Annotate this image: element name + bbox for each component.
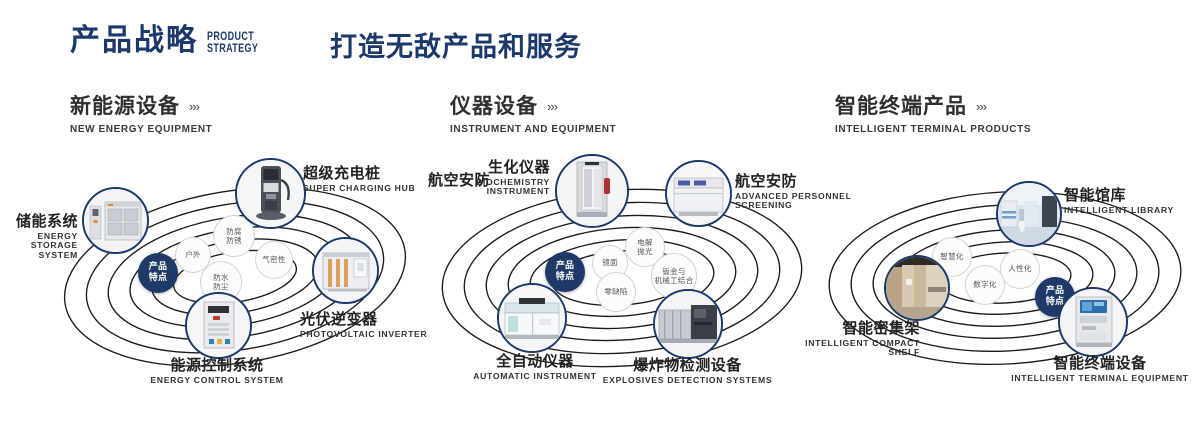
chevron-right-icon: ››› [189,100,199,113]
energy-storage-cabinet-icon [84,189,147,252]
control-cabinet-icon [187,294,250,357]
poster-canvas: 产品战略 PRODUCT STRATEGY 打造无敌产品和服务 新能源设备 ››… [0,0,1200,422]
section-title-cn: 仪器设备 [450,96,538,117]
biochemistry-scanner-icon [557,156,627,226]
section-title-cn: 智能终端产品 [835,96,967,117]
section-title-en: INSTRUMENT AND EQUIPMENT [450,124,616,135]
self-service-kiosk-icon [1060,289,1126,355]
node-biochemistry-instrument[interactable] [555,154,629,228]
page-title: 产品战略 PRODUCT STRATEGY [70,26,273,56]
node-photovoltaic-inverter[interactable] [312,237,379,304]
node-explosives-detection-systems[interactable] [653,289,723,359]
section-header-new-energy: 新能源设备 ››› NEW ENERGY EQUIPMENT [70,96,212,135]
pv-inverter-cabinet-icon [314,239,377,302]
title-cn: 产品战略 [70,26,198,56]
chevron-right-icon: ››› [547,100,557,113]
slogan: 打造无敌产品和服务 [330,34,582,61]
feature-bubble: 数字化 [965,265,1005,305]
node-label-automatic-instrument: 全自动仪器 AUTOMATIC INSTRUMENT [435,353,635,381]
chevron-right-icon: ››› [976,100,986,113]
node-super-charging-hub[interactable] [235,158,306,229]
node-intelligent-library[interactable] [996,181,1062,247]
node-energy-control-system[interactable] [185,292,252,359]
section-title-en: NEW ENERGY EQUIPMENT [70,124,212,135]
section-title-cn: 新能源设备 [70,96,180,117]
cluster-intelligent-terminal: 智慧化 数字化 人性化 产品 特点 [820,165,1190,390]
node-intelligent-terminal-equipment[interactable] [1058,287,1128,357]
node-label-intelligent-terminal-equipment: 智能终端设备 INTELLIGENT TERMINAL EQUIPMENT [1005,355,1195,383]
feature-bubble: 气密性 [255,241,293,279]
feature-bubble: 零缺陷 [596,272,636,312]
core-bubble-product-features: 产品 特点 [138,253,178,293]
node-label-energy-storage-system: 储能系统 ENERGY STORAGE SYSTEM [0,213,78,261]
library-interior-icon [998,183,1060,245]
node-intelligent-compact-shelf[interactable] [884,255,950,321]
node-label-intelligent-library: 智能馆库 INTELLIGENT LIBRARY [1064,187,1200,215]
section-header-instrument: 仪器设备 ››› INSTRUMENT AND EQUIPMENT [450,96,616,135]
node-label-aviation-security-overlap: 航空安防 [380,172,490,189]
cluster-new-energy: 户外 防腐 防锈 防水 防尘 气密性 产品 特点 [55,165,415,390]
title-en: PRODUCT STRATEGY [207,32,258,55]
node-label-intelligent-compact-shelf: 智能密集架 INTELLIGENT COMPACT SHELF [725,320,920,358]
compact-shelf-icon [886,257,948,319]
node-automatic-instrument[interactable] [497,283,567,353]
node-advanced-personnel-screening[interactable] [665,160,732,227]
section-header-intelligent-terminal: 智能终端产品 ››› INTELLIGENT TERMINAL PRODUCTS [835,96,1031,135]
automatic-analyzer-icon [499,285,565,351]
feature-bubble: 人性化 [1000,249,1040,289]
node-energy-storage-system[interactable] [82,187,149,254]
node-label-energy-control-system: 能源控制系统 ENERGY CONTROL SYSTEM [87,357,347,385]
charging-pile-icon [237,160,304,227]
screening-machine-icon [667,162,730,225]
section-title-en: INTELLIGENT TERMINAL PRODUCTS [835,124,1031,135]
explosives-detector-icon [655,291,721,357]
